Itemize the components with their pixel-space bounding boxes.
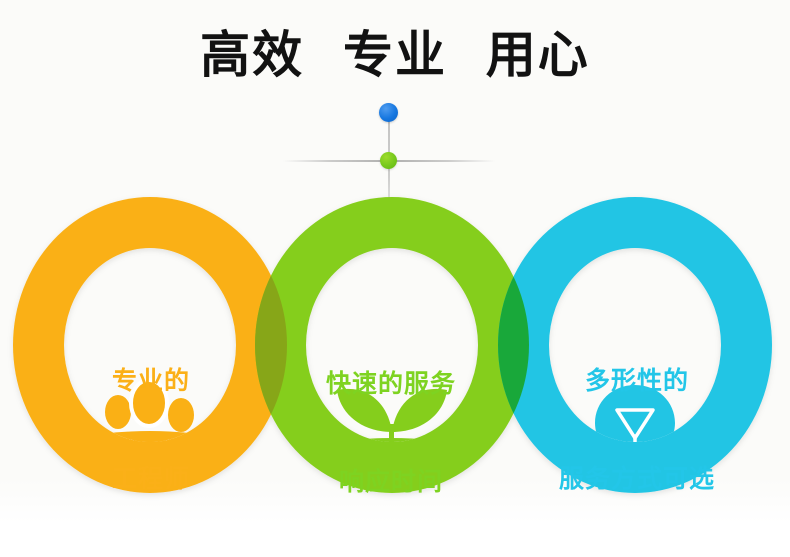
ring-engineer-label: 专业的 工程师 [45, 300, 257, 557]
promo-poster: 高效 专业 用心 [0, 0, 790, 557]
ring-response-label: 快速的服务 响应时间 [285, 303, 497, 557]
ring-response-line1: 快速的服务 [285, 368, 497, 401]
ring-response-line2: 响应时间 [285, 466, 497, 499]
ring-engineer-line2: 工程师 [45, 463, 257, 496]
ring-service-label: 多形性的 服务方式可选 [516, 300, 758, 557]
ring-service-line2: 服务方式可选 [516, 463, 758, 496]
ring-service-line1: 多形性的 [516, 365, 758, 398]
ring-engineer-line1: 专业的 [45, 365, 257, 398]
